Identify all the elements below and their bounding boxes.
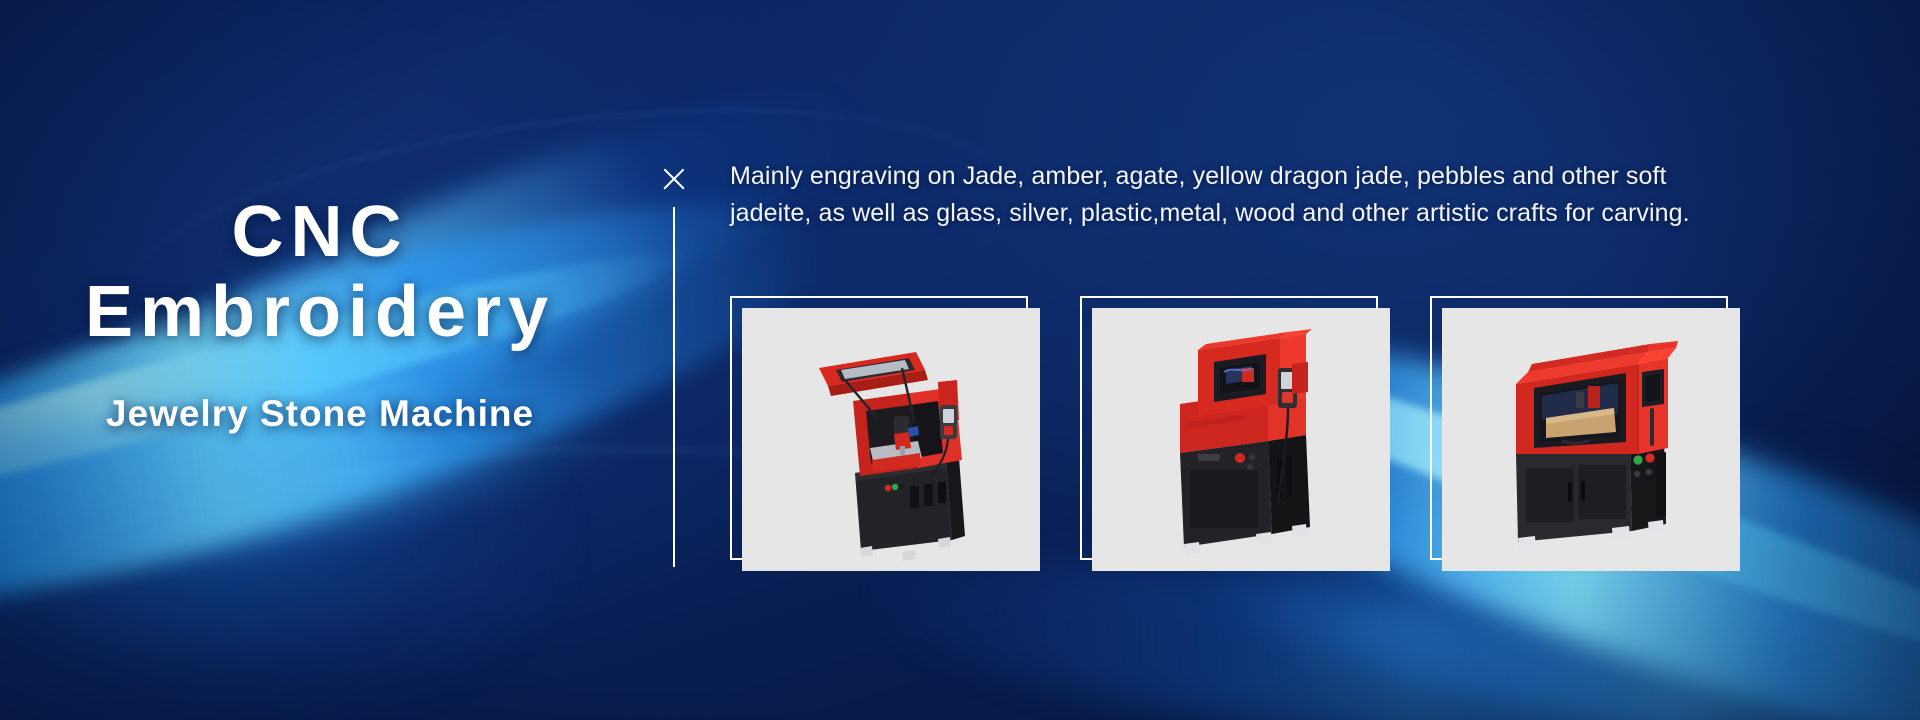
- product-card-2[interactable]: [1080, 296, 1390, 571]
- vertical-rule: [673, 207, 675, 567]
- promo-banner: CNC Embroidery Jewelry Stone Machine Mai…: [0, 0, 1920, 720]
- product-card-3[interactable]: [1430, 296, 1740, 571]
- page-title-line-1: CNC: [0, 192, 640, 272]
- product-photo-2: [1092, 308, 1390, 571]
- enclosed-cnc-engraver-icon: [1092, 308, 1390, 571]
- product-image-gallery: [730, 296, 1740, 571]
- close-x-icon: [660, 165, 688, 193]
- product-photo-1: [742, 308, 1040, 571]
- divider: [656, 165, 692, 567]
- product-photo-3: [1442, 308, 1740, 571]
- product-card-1[interactable]: [730, 296, 1040, 571]
- page-title-line-2: Embroidery: [0, 272, 640, 352]
- description-text: Mainly engraving on Jade, amber, agate, …: [730, 158, 1740, 232]
- headline-block: CNC Embroidery Jewelry Stone Machine: [0, 192, 640, 436]
- page-subtitle: Jewelry Stone Machine: [0, 392, 640, 436]
- open-lid-cnc-engraver-icon: [742, 308, 1040, 571]
- wide-window-cnc-engraver-icon: [1442, 308, 1740, 571]
